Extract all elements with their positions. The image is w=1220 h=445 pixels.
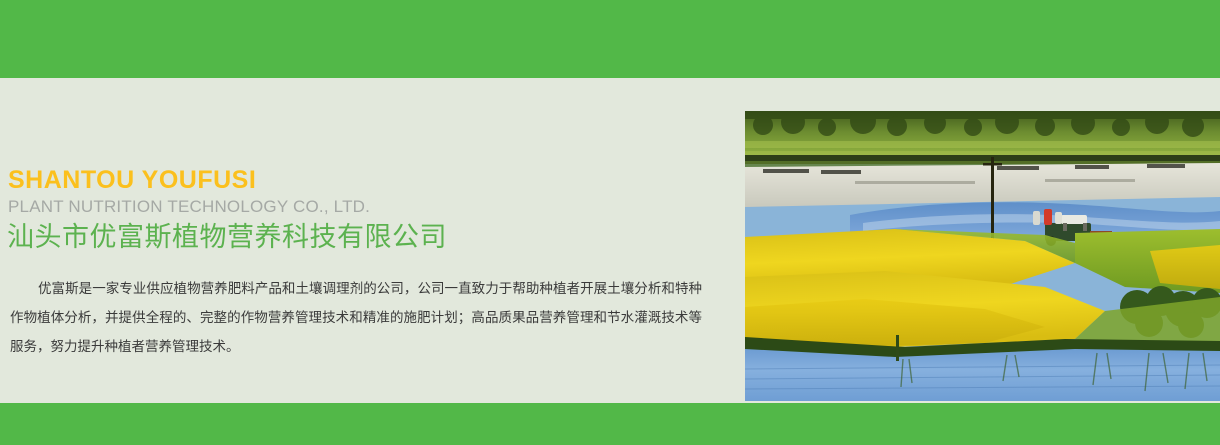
company-profile-page: { "theme": { "band_green": "#52b848", "p… (0, 0, 1220, 445)
company-name-english: SHANTOU YOUFUSI (8, 168, 256, 193)
company-subtitle-english: PLANT NUTRITION TECHNOLOGY CO., LTD. (8, 198, 370, 215)
farmland-photo-illustration (745, 111, 1220, 401)
farmland-photo (745, 111, 1220, 401)
top-green-band (0, 0, 1220, 78)
company-name-chinese: 汕头市优富斯植物营养科技有限公司 (7, 221, 447, 255)
main-content: SHANTOU YOUFUSI PLANT NUTRITION TECHNOLO… (0, 78, 1220, 403)
company-introduction-paragraph: 优富斯是一家专业供应植物营养肥料产品和土壤调理剂的公司，公司一直致力于帮助种植者… (10, 274, 702, 361)
bottom-green-band (0, 403, 1220, 445)
text-column: SHANTOU YOUFUSI PLANT NUTRITION TECHNOLO… (0, 78, 740, 403)
